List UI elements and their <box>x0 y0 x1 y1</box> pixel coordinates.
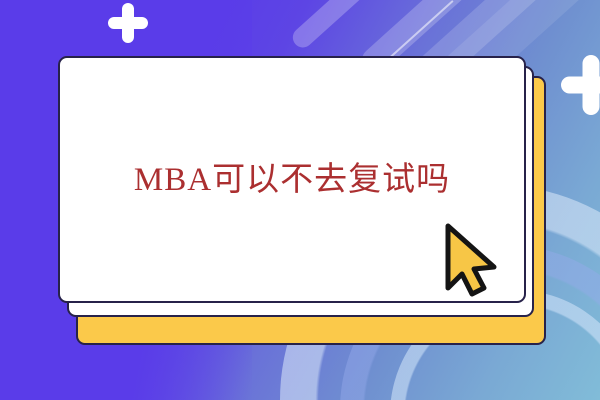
plus-icon-top-left <box>108 3 148 43</box>
headline-text: MBA可以不去复试吗 <box>134 152 450 200</box>
plus-icon-right <box>561 55 600 115</box>
stacked-card-front: MBA可以不去复试吗 <box>58 56 526 303</box>
poster-canvas: MBA可以不去复试吗 <box>0 0 600 400</box>
